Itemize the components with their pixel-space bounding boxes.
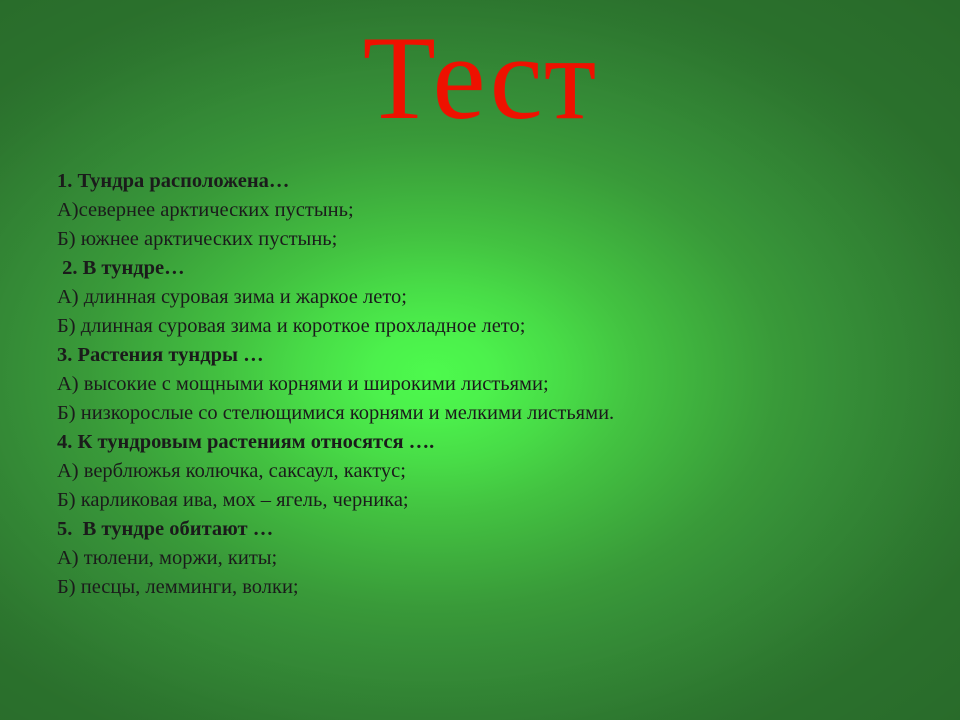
quiz-answer-option[interactable]: А) верблюжья колючка, саксаул, кактус;	[57, 457, 937, 486]
quiz-question: 5. В тундре обитают …	[57, 515, 937, 544]
slide-title: Тест	[0, 18, 960, 138]
quiz-answer-option[interactable]: Б) песцы, лемминги, волки;	[57, 573, 937, 602]
quiz-answer-option[interactable]: А)севернее арктических пустынь;	[57, 196, 937, 225]
quiz-answer-option[interactable]: Б) южнее арктических пустынь;	[57, 225, 937, 254]
slide-content: Тест 1. Тундра расположена…А)севернее ар…	[0, 0, 960, 720]
quiz-answer-option[interactable]: Б) карликовая ива, мох – ягель, черника;	[57, 486, 937, 515]
quiz-answer-option[interactable]: Б) длинная суровая зима и короткое прохл…	[57, 312, 937, 341]
quiz-answer-option[interactable]: А) тюлени, моржи, киты;	[57, 544, 937, 573]
quiz-question: 3. Растения тундры …	[57, 341, 937, 370]
quiz-answer-option[interactable]: А) длинная суровая зима и жаркое лето;	[57, 283, 937, 312]
quiz-answer-option[interactable]: Б) низкорослые со стелющимися корнями и …	[57, 399, 937, 428]
quiz-question: 2. В тундре…	[57, 254, 937, 283]
quiz-answer-option[interactable]: А) высокие с мощными корнями и широкими …	[57, 370, 937, 399]
quiz-question: 4. К тундровым растениям относятся ….	[57, 428, 937, 457]
quiz-body: 1. Тундра расположена…А)севернее арктиче…	[57, 167, 937, 602]
quiz-question: 1. Тундра расположена…	[57, 167, 937, 196]
slide-canvas: Тест 1. Тундра расположена…А)севернее ар…	[0, 0, 960, 720]
